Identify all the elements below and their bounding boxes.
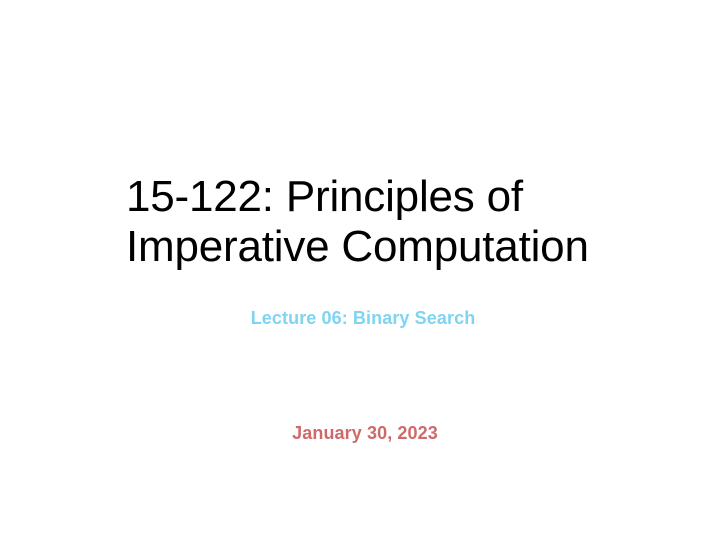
slide-date-block: January 30, 2023: [115, 421, 615, 445]
page-title: 15-122: Principles of Imperative Computa…: [126, 172, 596, 272]
slide-title-block: 15-122: Principles of Imperative Computa…: [126, 172, 596, 272]
presentation-slide: 15-122: Principles of Imperative Computa…: [0, 0, 720, 540]
lecture-date: January 30, 2023: [115, 421, 615, 445]
lecture-subtitle: Lecture 06: Binary Search: [113, 306, 613, 330]
slide-subtitle-block: Lecture 06: Binary Search: [113, 306, 613, 330]
